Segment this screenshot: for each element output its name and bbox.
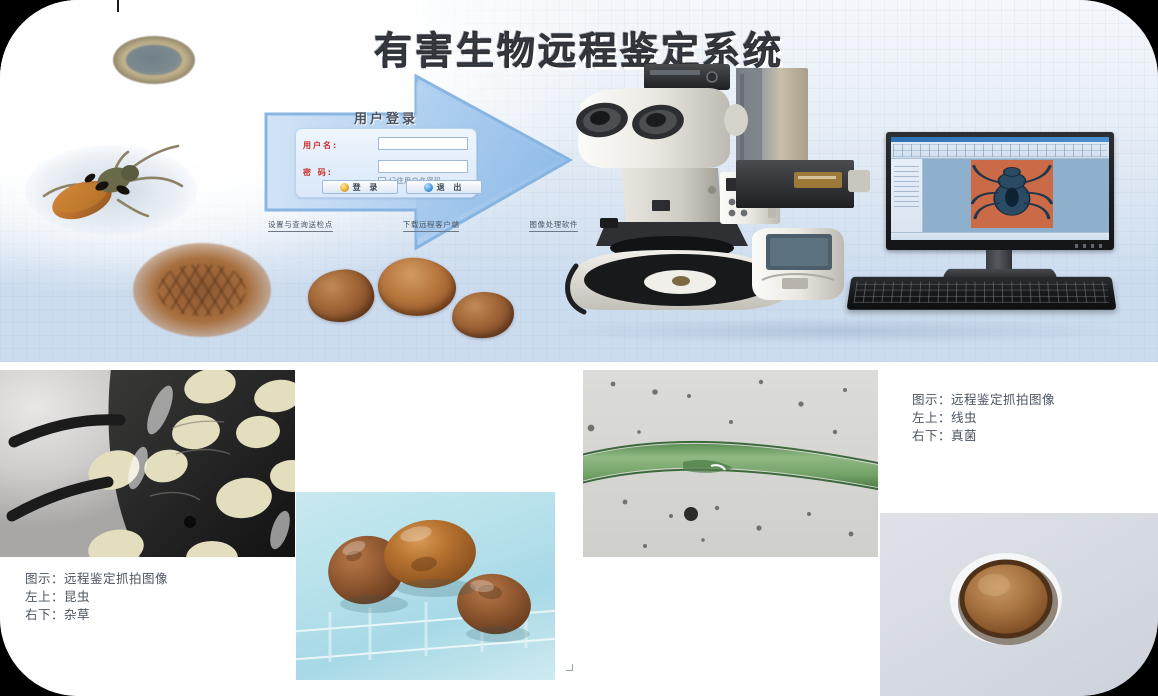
exit-button[interactable]: 退 出: [406, 180, 482, 194]
photo-fungus-spore: [880, 513, 1158, 696]
content-card: 有害生物远程鉴定系统: [0, 0, 1158, 696]
password-input[interactable]: [378, 160, 468, 173]
software-ribbon-toolbar: [891, 137, 1109, 159]
top-edge-notch: [117, 0, 119, 12]
banner-links: 设置与查询送检点 下载远程客户端 图像处理软件: [268, 219, 578, 232]
exit-button-label: 退 出: [437, 182, 465, 193]
monitor-indicator-leds: [1075, 244, 1105, 248]
keyboard: [846, 277, 1116, 310]
workstation-monitor: [886, 132, 1114, 250]
caption-left: 图示：远程鉴定抓拍图像 左上：昆虫 右下：杂草: [25, 570, 168, 624]
specimen-coin-image: [113, 36, 195, 84]
login-button-label: 登 录: [353, 182, 381, 193]
login-button[interactable]: 登 录: [322, 180, 398, 194]
photo-nematode: [583, 370, 878, 557]
software-image-canvas: [923, 159, 1109, 232]
username-label: 用户名:: [303, 140, 338, 151]
insect-specimen-overlay: [971, 160, 1053, 227]
weed-photo-resize-handle: [566, 664, 573, 671]
keyboard-keys: [854, 282, 1110, 303]
caption-right-line2: 左上：线虫: [912, 409, 1055, 427]
monitor-screen: [891, 137, 1109, 240]
caption-left-line2: 左上：昆虫: [25, 588, 168, 606]
caption-left-line1: 图示：远程鉴定抓拍图像: [25, 570, 168, 588]
username-input[interactable]: [378, 137, 468, 150]
caption-right-line3: 右下：真菌: [912, 427, 1055, 445]
specimen-seed-image: [133, 243, 271, 337]
photo-insect-macro: [0, 370, 295, 557]
hero-banner: 有害生物远程鉴定系统: [0, 0, 1158, 362]
desk-shadow: [560, 318, 1120, 344]
exit-icon: [424, 183, 433, 192]
link-download-client[interactable]: 下载远程客户端: [403, 219, 460, 232]
photo-weed-seeds: [296, 492, 555, 680]
key-icon: [340, 183, 349, 192]
microscope-image: [540, 22, 870, 342]
screenshot-root: 有害生物远程鉴定系统: [0, 0, 1158, 696]
caption-left-line3: 右下：杂草: [25, 606, 168, 624]
caption-right: 图示：远程鉴定抓拍图像 左上：线虫 右下：真菌: [912, 391, 1055, 445]
software-left-panel: [891, 159, 923, 232]
login-panel-title: 用户登录: [295, 108, 477, 127]
link-manage-stations[interactable]: 设置与查询送检点: [268, 219, 333, 232]
password-label: 密 码:: [303, 167, 333, 178]
software-status-bar: [891, 232, 1109, 240]
specimen-beetle-image: [22, 142, 200, 238]
caption-right-line1: 图示：远程鉴定抓拍图像: [912, 391, 1055, 409]
